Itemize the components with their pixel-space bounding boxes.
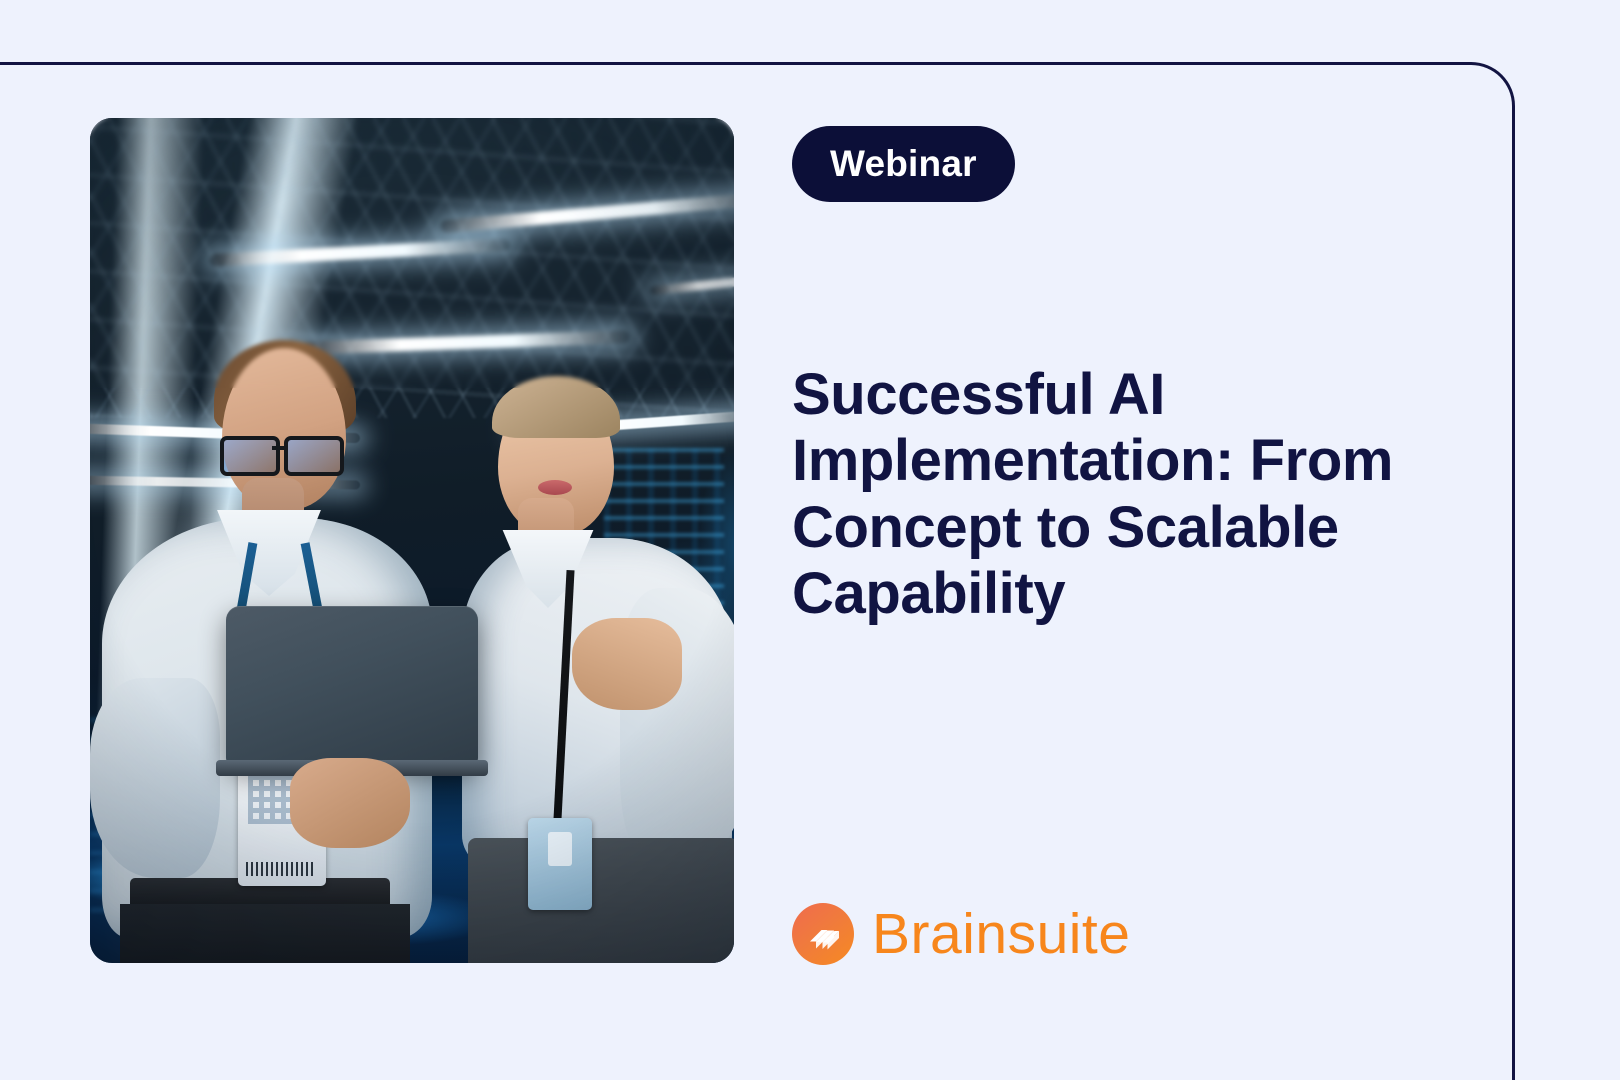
person-man-hand: [290, 758, 410, 848]
content-column: Webinar Successful AI Implementation: Fr…: [792, 0, 1492, 1080]
person-woman-skirt: [468, 838, 734, 963]
person-man-arm: [90, 678, 220, 878]
eyeglasses-icon: [218, 436, 346, 470]
page-title: Successful AI Implementation: From Conce…: [792, 362, 1522, 628]
hero-photo: [90, 118, 734, 963]
person-man-trousers: [120, 904, 410, 963]
person-woman-lips: [538, 480, 572, 495]
headline-line-4: Capability: [792, 561, 1065, 626]
ceiling-truss-texture: [90, 118, 734, 418]
webinar-promo-card: Webinar Successful AI Implementation: Fr…: [0, 0, 1620, 1080]
headline-line-1: Successful AI: [792, 362, 1165, 427]
headline-line-2: Implementation: From: [792, 428, 1393, 493]
person-woman-id-badge: [528, 818, 592, 910]
laptop-icon: [226, 606, 478, 766]
person-woman-hand: [572, 618, 682, 710]
headline-line-3: Concept to Scalable: [792, 495, 1339, 560]
brand-logo: Brainsuite: [792, 903, 1130, 965]
brainsuite-mark: [792, 903, 854, 965]
stacked-layers-icon: [803, 914, 843, 954]
brand-name: Brainsuite: [872, 906, 1130, 963]
status-badge: Webinar: [792, 126, 1015, 202]
